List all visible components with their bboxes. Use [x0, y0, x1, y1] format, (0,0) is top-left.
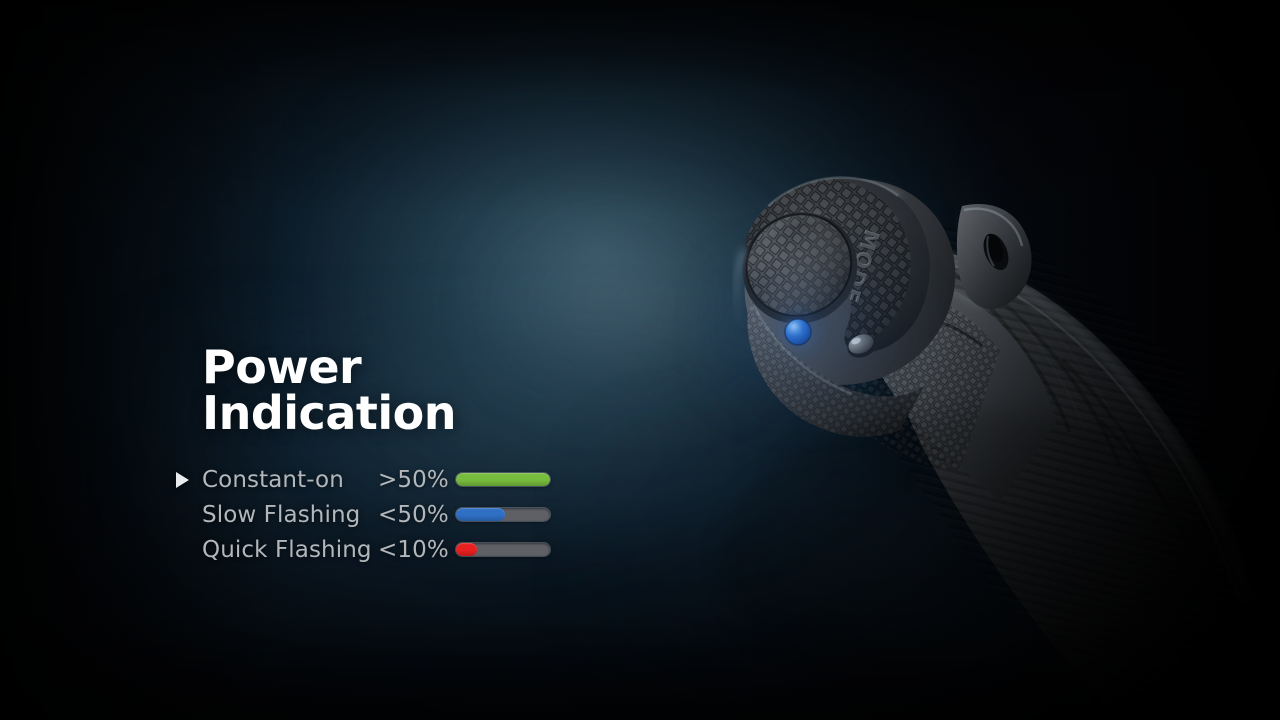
play-triangle-icon [176, 507, 202, 523]
battery-bar-fill [456, 473, 550, 486]
list-item: Slow Flashing <50% [176, 497, 596, 532]
battery-bar-fill [456, 543, 477, 556]
play-triangle-icon [176, 542, 202, 558]
percent-value-slow-flashing: <50% [378, 502, 456, 528]
battery-bar-quick-flashing [456, 543, 550, 556]
power-indication-panel: Power Indication Constant-on >50% Slow F… [176, 344, 596, 567]
percent-value-quick-flashing: <10% [378, 537, 456, 563]
page-title: Power Indication [202, 344, 596, 436]
play-triangle-icon [176, 472, 202, 488]
list-item: Constant-on >50% [176, 462, 596, 497]
slide-canvas: MODE MODE [0, 0, 1280, 720]
mode-label-quick-flashing: Quick Flashing [202, 537, 378, 563]
mode-label-slow-flashing: Slow Flashing [202, 502, 378, 528]
percent-value-constant-on: >50% [378, 467, 456, 493]
battery-bar-fill [456, 508, 505, 521]
battery-bar-constant-on [456, 473, 550, 486]
battery-bar-slow-flashing [456, 508, 550, 521]
mode-label-constant-on: Constant-on [202, 467, 378, 493]
power-indication-list: Constant-on >50% Slow Flashing <50% Quic… [176, 462, 596, 567]
list-item: Quick Flashing <10% [176, 532, 596, 567]
